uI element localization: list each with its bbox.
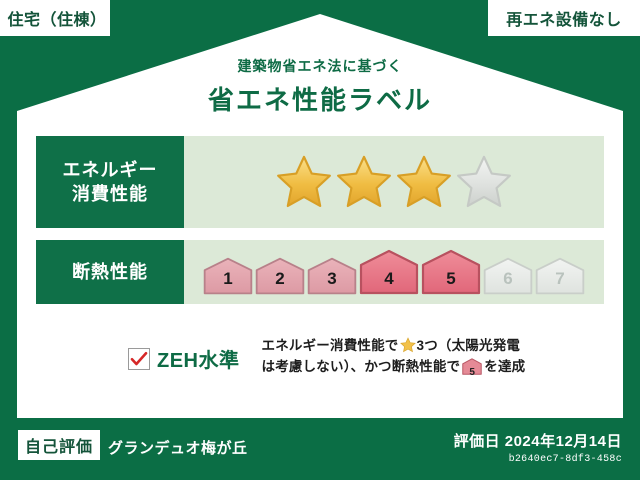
star-icon-filled bbox=[395, 153, 453, 211]
insulation-level-3: 3 bbox=[307, 257, 357, 295]
title-main: 省エネ性能ラベル bbox=[0, 80, 640, 117]
evaluation-id: b2640ec7-8df3-458c bbox=[454, 454, 622, 465]
zeh-desc-line2-b: を達成 bbox=[484, 359, 525, 374]
zeh-desc-line1-a: エネルギー消費性能で bbox=[262, 338, 399, 353]
row-energy-performance: エネルギー 消費性能 bbox=[36, 136, 604, 228]
star-icon-filled bbox=[275, 153, 333, 211]
zeh-desc-line2-a: は考慮しない）、かつ断熱性能で bbox=[262, 359, 461, 374]
row-energy-label: エネルギー 消費性能 bbox=[36, 136, 184, 228]
header-chip-building-type: 住宅（住棟） bbox=[0, 0, 110, 36]
zeh-description: エネルギー消費性能で3つ（太陽光発電は考慮しない）、かつ断熱性能で5を達成 bbox=[262, 336, 526, 382]
insulation-level-6: 6 bbox=[483, 257, 533, 295]
row-energy-label-line2: 消費性能 bbox=[72, 184, 148, 204]
house-icon bbox=[359, 249, 419, 295]
energy-performance-label: 住宅（住棟） 再エネ設備なし 建築物省エネ法に基づく 省エネ性能ラベル エネルギ… bbox=[0, 0, 640, 480]
insulation-level-4: 4 bbox=[359, 249, 419, 295]
check-icon bbox=[130, 351, 148, 367]
insulation-level-5: 5 bbox=[421, 249, 481, 295]
row-insulation-value: 1234567 bbox=[184, 240, 604, 304]
evaluation-type-badge: 自己評価 bbox=[18, 430, 100, 460]
zeh-standard-block: ZEH水準 エネルギー消費性能で3つ（太陽光発電は考慮しない）、かつ断熱性能で5… bbox=[36, 336, 604, 382]
footer-left: 自己評価 グランデュオ梅が丘 bbox=[18, 430, 248, 460]
house-icon bbox=[483, 257, 533, 295]
star-icon-empty bbox=[455, 153, 513, 211]
house-icon bbox=[535, 257, 585, 295]
row-insulation-performance: 断熱性能 1234567 bbox=[36, 240, 604, 304]
zeh-label: ZEH水準 bbox=[157, 344, 240, 373]
row-insulation-label: 断熱性能 bbox=[36, 240, 184, 304]
insulation-level-1: 1 bbox=[203, 257, 253, 295]
house-icon-inline-number: 5 bbox=[462, 365, 482, 381]
building-name: グランデュオ梅が丘 bbox=[108, 437, 248, 460]
star-icon-inline bbox=[400, 337, 416, 353]
insulation-level-scale: 1234567 bbox=[203, 249, 585, 295]
house-icon bbox=[307, 257, 357, 295]
page-title: 建築物省エネ法に基づく 省エネ性能ラベル bbox=[0, 56, 640, 117]
house-icon bbox=[203, 257, 253, 295]
header-chip-renewable-energy: 再エネ設備なし bbox=[488, 0, 640, 36]
star-rating bbox=[275, 153, 513, 211]
zeh-desc-line1-b: 3つ（太陽光発電 bbox=[417, 338, 521, 353]
row-energy-label-line1: エネルギー bbox=[63, 160, 158, 180]
house-icon-inline: 5 bbox=[462, 358, 482, 382]
row-energy-value bbox=[184, 136, 604, 228]
zeh-badge: ZEH水準 bbox=[128, 344, 240, 373]
star-icon-filled bbox=[335, 153, 393, 211]
label-footer: 自己評価 グランデュオ梅が丘 評価日 2024年12月14日 b2640ec7-… bbox=[0, 418, 640, 480]
house-icon bbox=[255, 257, 305, 295]
insulation-level-2: 2 bbox=[255, 257, 305, 295]
evaluation-date: 評価日 2024年12月14日 bbox=[454, 430, 622, 451]
insulation-level-7: 7 bbox=[535, 257, 585, 295]
zeh-checkbox[interactable] bbox=[128, 348, 150, 370]
house-icon bbox=[421, 249, 481, 295]
footer-right: 評価日 2024年12月14日 b2640ec7-8df3-458c bbox=[454, 430, 622, 465]
title-subtitle: 建築物省エネ法に基づく bbox=[0, 56, 640, 76]
